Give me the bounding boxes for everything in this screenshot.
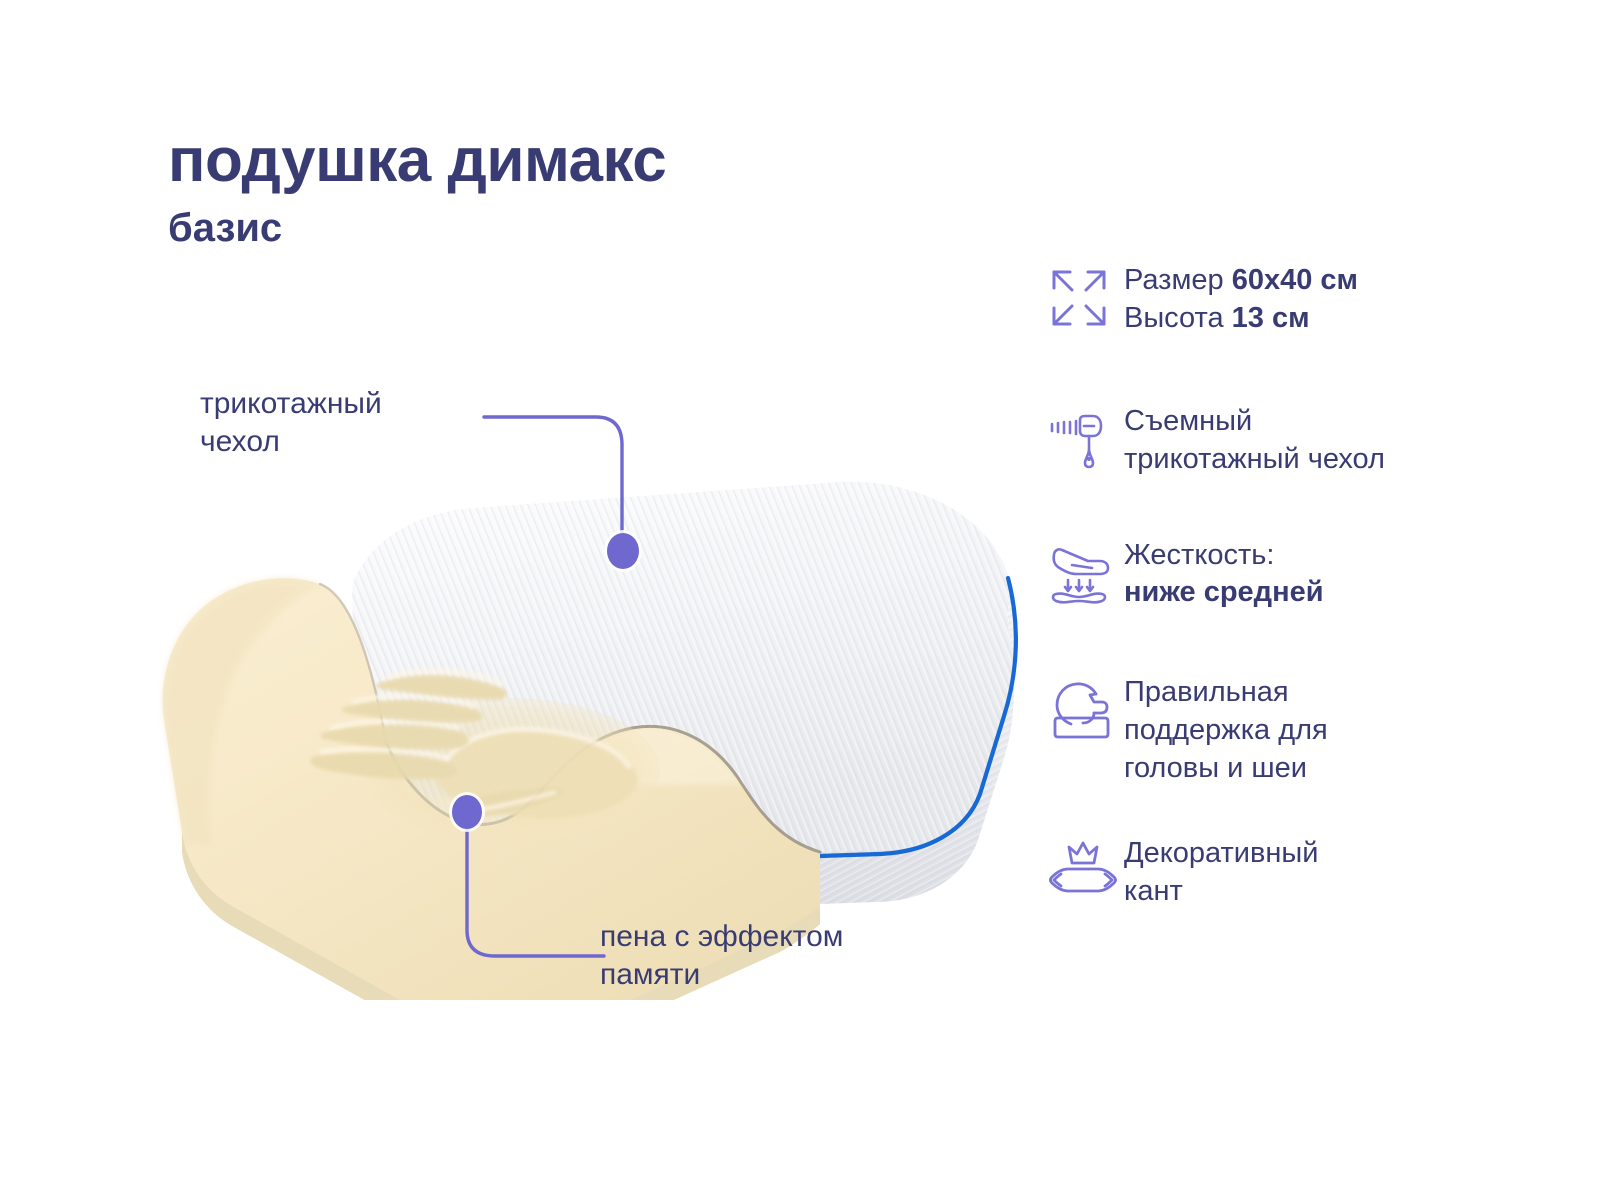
callout-cover-label: трикотажный чехол xyxy=(200,385,520,460)
infographic-page: подушка димакс базис xyxy=(0,0,1600,1200)
feature-list: Размер 60x40 см Высота 13 см xyxy=(1048,262,1548,911)
feature-support-text: Правильная поддержка для головы и шеи xyxy=(1124,674,1328,787)
callout-foam-line2: памяти xyxy=(600,956,1000,994)
feature-piping-text: Декоративный кант xyxy=(1124,835,1318,910)
callout-cover-line2: чехол xyxy=(200,423,520,461)
feature-firmness-value: ниже средней xyxy=(1124,576,1324,608)
feature-removable-cover-line2: трикотажный чехол xyxy=(1124,441,1385,479)
zipper-icon xyxy=(1048,403,1124,469)
feature-removable-cover-text: Съемный трикотажный чехол xyxy=(1124,403,1385,478)
crown-pillow-icon xyxy=(1048,835,1124,897)
callout-foam-dot xyxy=(452,795,482,829)
callout-cover-dot xyxy=(607,533,639,569)
feature-removable-cover-line1: Съемный xyxy=(1124,403,1385,441)
feature-size-text: Размер 60x40 см Высота 13 см xyxy=(1124,262,1358,337)
feature-piping-line2: кант xyxy=(1124,873,1318,911)
title-block: подушка димакс базис xyxy=(168,130,666,248)
head-on-pillow-icon xyxy=(1048,674,1124,744)
feature-support-line1: Правильная xyxy=(1124,674,1328,712)
feature-support: Правильная поддержка для головы и шеи xyxy=(1048,674,1548,787)
callout-foam-label: пена с эффектом памяти xyxy=(600,918,1000,993)
feature-size-line2: Высота 13 см xyxy=(1124,300,1358,338)
feature-size: Размер 60x40 см Высота 13 см xyxy=(1048,262,1548,337)
feature-firmness: Жесткость: ниже средней xyxy=(1048,537,1548,612)
callout-cover-line1: трикотажный xyxy=(200,385,520,423)
callout-foam-line1: пена с эффектом xyxy=(600,918,1000,956)
feature-height-label: Высота xyxy=(1124,302,1232,334)
feature-firmness-line1: Жесткость: xyxy=(1124,537,1324,575)
feature-size-line1: Размер 60x40 см xyxy=(1124,262,1358,300)
feature-support-line3: головы и шеи xyxy=(1124,750,1328,788)
product-title: подушка димакс xyxy=(168,130,666,192)
feature-height-value: 13 см xyxy=(1232,302,1310,334)
expand-arrows-icon xyxy=(1048,262,1124,330)
feature-firmness-text: Жесткость: ниже средней xyxy=(1124,537,1324,612)
pillow-graphic xyxy=(120,420,1080,1000)
feature-removable-cover: Съемный трикотажный чехол xyxy=(1048,403,1548,478)
feature-size-value: 60x40 см xyxy=(1232,264,1358,296)
feature-piping-line1: Декоративный xyxy=(1124,835,1318,873)
feature-piping: Декоративный кант xyxy=(1048,835,1548,910)
feature-size-label: Размер xyxy=(1124,264,1232,296)
product-subtitle: базис xyxy=(168,208,666,248)
feature-support-line2: поддержка для xyxy=(1124,712,1328,750)
hand-press-pillow-icon xyxy=(1048,537,1124,607)
pillow-illustration xyxy=(120,420,1080,1000)
